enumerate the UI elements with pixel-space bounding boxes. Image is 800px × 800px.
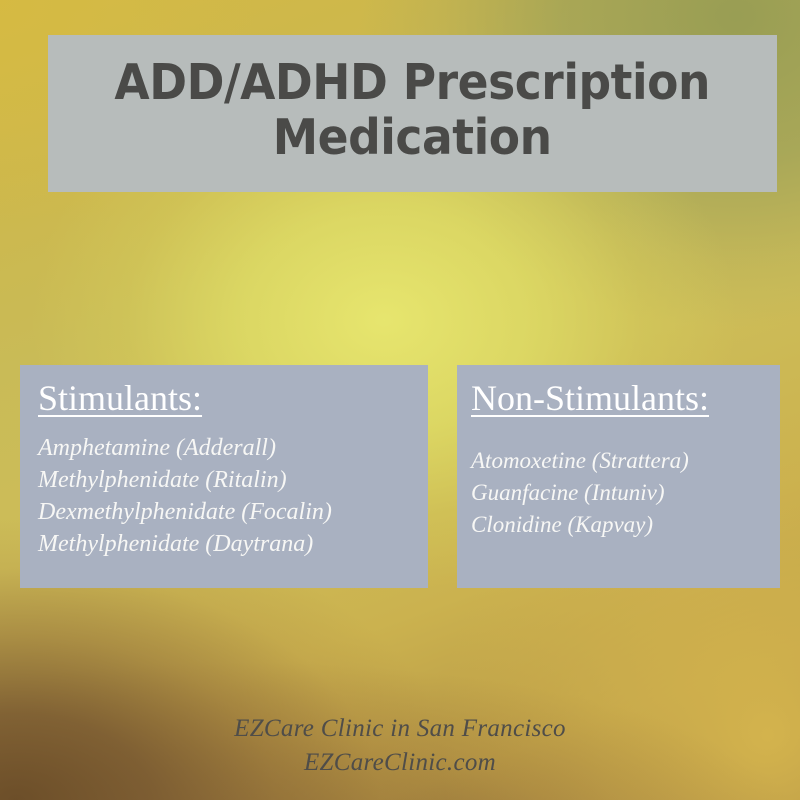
clinic-website: EZCareClinic.com [0,746,800,780]
category-panel-stimulants: Stimulants: Amphetamine (Adderall) Methy… [20,365,428,588]
list-item: Methylphenidate (Ritalin) [38,465,414,497]
list-item: Atomoxetine (Strattera) [471,445,772,477]
list-item: Clonidine (Kapvay) [471,509,772,541]
footer: EZCare Clinic in San Francisco EZCareCli… [0,712,800,780]
category-heading-non-stimulants: Non-Stimulants: [471,377,709,419]
medication-list-stimulants: Amphetamine (Adderall) Methylphenidate (… [38,433,414,561]
list-item: Amphetamine (Adderall) [38,433,414,465]
category-heading-stimulants: Stimulants: [38,377,202,419]
poster-canvas: ADD/ADHD Prescription Medication Stimula… [0,0,800,800]
page-title: ADD/ADHD Prescription Medication [115,56,711,166]
title-banner: ADD/ADHD Prescription Medication [48,35,777,192]
list-item: Methylphenidate (Daytrana) [38,529,414,561]
list-item: Dexmethylphenidate (Focalin) [38,497,414,529]
category-panel-non-stimulants: Non-Stimulants: Atomoxetine (Strattera) … [457,365,780,588]
clinic-name: EZCare Clinic in San Francisco [0,712,800,746]
list-item: Guanfacine (Intuniv) [471,477,772,509]
medication-list-non-stimulants: Atomoxetine (Strattera) Guanfacine (Intu… [471,445,772,540]
